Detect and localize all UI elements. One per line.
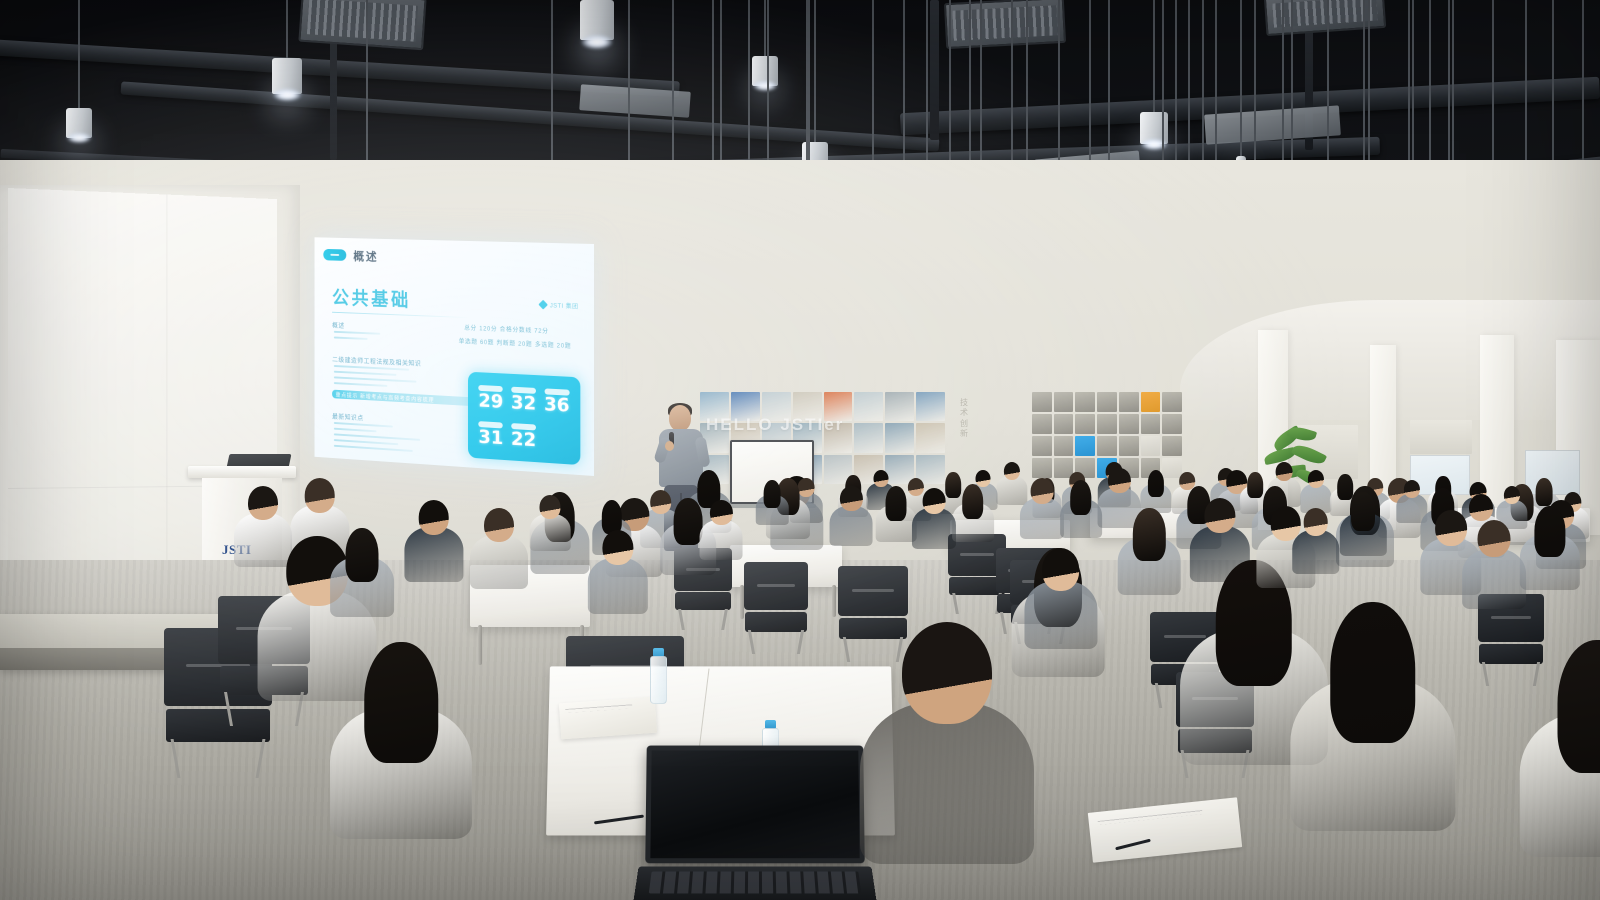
employee-portrait <box>1119 436 1139 456</box>
employee-portrait <box>1141 414 1161 434</box>
lamp-housing <box>580 0 614 40</box>
person-torso <box>860 702 1034 864</box>
wall-chinese-text: 技术创新 <box>960 398 972 440</box>
table-leg <box>478 625 482 665</box>
slide-kpi-card: 2932363122 <box>468 372 580 465</box>
slide-body-line <box>334 337 368 340</box>
bottle-body <box>650 656 667 704</box>
person-head <box>710 500 732 525</box>
employee-portrait <box>1162 392 1182 412</box>
foreground-attendee <box>1290 602 1455 853</box>
slide-title: 公共基础 <box>332 283 411 312</box>
lamp-cord <box>551 0 553 168</box>
laptop-keyboard <box>649 871 861 893</box>
projected-slide: 概述 公共基础 JSTI 集团 概述 二级建造师工程法规及相关知识 重点提示 新… <box>315 237 594 476</box>
lamp-cord <box>628 0 630 184</box>
slide-logo-text: JSTI 集团 <box>550 300 579 310</box>
pendant-lamp <box>66 0 92 152</box>
person-head <box>1148 470 1164 497</box>
slide-highlight-bar: 重点提示 新增考点与高频考查内容梳理 <box>332 390 475 407</box>
slide-highlight-text: 重点提示 新增考点与高频考查内容梳理 <box>336 391 435 404</box>
person-torso <box>700 520 743 560</box>
slide-kpi-item: 36 <box>541 383 573 419</box>
window-blind <box>1410 420 1472 454</box>
lamp-cord <box>78 0 80 108</box>
wall-photo <box>885 392 914 421</box>
audience-member <box>1462 520 1526 617</box>
lamp-cord <box>1202 0 1204 184</box>
person-head <box>602 500 622 534</box>
laptop-base <box>633 867 876 900</box>
person-torso <box>830 506 873 546</box>
wall-photo <box>854 423 883 452</box>
person-torso <box>912 508 956 549</box>
audience-member <box>404 500 463 590</box>
slide-kpi-value: 31 <box>478 427 503 447</box>
lamp-cord <box>1240 0 1242 156</box>
audience-member <box>952 484 994 547</box>
person-torso <box>1292 530 1340 574</box>
employee-portrait <box>1162 414 1182 434</box>
lamp-cord <box>286 0 288 58</box>
wall-photo <box>916 392 945 421</box>
person-head <box>1031 478 1054 504</box>
foreground-attendee <box>1520 640 1600 878</box>
slide-logo-mark <box>539 300 548 310</box>
person-head <box>1004 462 1020 480</box>
employee-portrait <box>1141 436 1161 456</box>
person-head <box>673 498 702 545</box>
audience-member <box>1118 508 1181 603</box>
audience-member <box>876 486 917 548</box>
slide-kpi-value: 32 <box>511 393 536 413</box>
person-head <box>1351 492 1375 531</box>
lectern-top <box>188 466 296 478</box>
employee-portrait <box>1032 414 1052 434</box>
person-torso <box>1462 549 1526 608</box>
seminar-room-photo: 概述 公共基础 JSTI 集团 概述 二级建造师工程法规及相关知识 重点提示 新… <box>0 0 1600 900</box>
person-head <box>603 530 634 565</box>
employee-portrait <box>1054 436 1074 456</box>
person-head <box>1133 508 1165 561</box>
person-torso <box>1020 498 1064 539</box>
slide-header: 概述 <box>315 237 594 278</box>
person-head <box>962 484 984 519</box>
slide-right-line: 总分 120分 合格分数线 72分 <box>464 323 548 335</box>
chair-back <box>838 566 908 616</box>
slide-title-rule <box>332 312 468 318</box>
audience-member <box>1060 480 1102 543</box>
chair-legs <box>170 739 265 778</box>
slide-kpi-value: 29 <box>478 391 503 411</box>
slide-kpi-value: 22 <box>511 429 536 449</box>
employee-portrait <box>1141 392 1161 412</box>
person-head <box>764 480 781 508</box>
lamp-glow <box>273 89 301 101</box>
slide-body-line <box>334 439 398 445</box>
notebook <box>559 697 657 740</box>
wall-slogan: HELLO JSTIer <box>706 415 844 435</box>
employee-portrait <box>1075 392 1095 412</box>
slide-kpi-item: 32 <box>508 382 539 418</box>
slide-kpi-item: 29 <box>475 380 506 416</box>
foreground-attendee <box>860 622 1034 886</box>
chair-legs <box>951 593 1002 614</box>
slide-right-line: 单选题 60题 判断题 20题 多选题 20题 <box>459 336 572 350</box>
chair-legs <box>677 609 728 630</box>
person-head <box>1308 470 1324 488</box>
slide-body-line <box>334 428 377 433</box>
pendant-lamp <box>580 0 614 54</box>
person-head <box>1276 462 1293 481</box>
slide-kpi-item: 31 <box>475 416 506 452</box>
person-head <box>484 508 514 542</box>
employee-portrait <box>1162 436 1182 456</box>
chair-seat <box>675 592 731 610</box>
person-torso <box>470 535 528 589</box>
slide-section-label: 最新知识点 <box>332 411 363 422</box>
slide-nav-badge <box>323 249 346 261</box>
person-head <box>304 478 335 513</box>
person-torso <box>530 514 571 552</box>
chair-seat <box>745 612 806 632</box>
audience-member <box>1340 492 1386 562</box>
person-head <box>540 495 561 519</box>
person-torso <box>404 527 463 582</box>
person-head <box>345 528 378 582</box>
employee-portrait <box>1097 414 1117 434</box>
person-head <box>418 500 449 535</box>
foreground-attendee <box>330 642 472 858</box>
slide-body-line <box>334 445 413 452</box>
person-head <box>886 486 907 521</box>
person-head <box>1477 520 1510 557</box>
person-head <box>1303 508 1328 536</box>
slide-body-line <box>334 371 397 376</box>
audience-member <box>1020 478 1064 545</box>
lamp-cord <box>1153 0 1155 112</box>
wall-photo <box>854 392 883 421</box>
presenter-head <box>669 405 691 431</box>
employee-portrait <box>1119 414 1139 434</box>
slide-logo: JSTI 集团 <box>540 300 578 310</box>
pendant-lamp <box>272 0 302 108</box>
slide-body-line <box>334 422 393 428</box>
lamp-glow <box>581 35 612 49</box>
employee-portrait <box>1119 392 1139 412</box>
person-torso <box>1024 581 1097 649</box>
water-bottle <box>650 648 667 704</box>
chair-legs <box>748 630 804 654</box>
slide-nav-label: 概述 <box>353 248 378 265</box>
person-head <box>248 486 278 520</box>
wall-photo <box>916 423 945 452</box>
employee-portrait <box>1097 392 1117 412</box>
employee-portrait <box>1097 436 1117 456</box>
person-head <box>840 486 862 511</box>
chair <box>744 562 808 654</box>
slide-body-line <box>334 331 380 335</box>
person-head <box>1330 602 1416 743</box>
employee-portrait <box>1075 414 1095 434</box>
slide-section-label: 概述 <box>332 319 345 329</box>
audience-member <box>330 528 394 625</box>
employee-portrait <box>1054 414 1074 434</box>
slide-kpi-item: 22 <box>508 418 539 454</box>
person-head <box>1504 486 1520 504</box>
chair-back <box>744 562 808 610</box>
audience-member <box>588 530 648 622</box>
employee-portrait <box>1054 392 1074 412</box>
slide-kpi-value: 36 <box>544 395 570 415</box>
pendant-lamp <box>1236 0 1246 182</box>
audience-member <box>756 480 788 529</box>
person-head <box>1404 480 1420 498</box>
slide-body-line <box>334 382 388 387</box>
audience-member <box>1292 508 1340 580</box>
employee-portrait <box>1032 458 1052 478</box>
slide-body-line <box>334 376 417 382</box>
foreground-laptop <box>636 745 866 900</box>
person-head <box>1205 498 1236 533</box>
audience-member <box>1520 506 1580 598</box>
person-head <box>1558 640 1600 773</box>
table-leg <box>832 585 836 617</box>
person-head <box>923 488 946 514</box>
employee-portrait <box>1075 436 1095 456</box>
person-torso <box>588 558 648 614</box>
audience-member <box>530 495 571 557</box>
audience-member <box>470 508 528 596</box>
person-head <box>902 622 992 724</box>
presenter-hand <box>665 441 674 451</box>
person-head <box>1042 548 1080 591</box>
audience-member <box>830 486 873 551</box>
employee-portrait <box>1032 436 1052 456</box>
person-head <box>1070 480 1092 515</box>
person-head <box>873 470 888 487</box>
slide-kpi-grid: 2932363122 <box>475 380 572 457</box>
person-head <box>1535 506 1566 557</box>
person-head <box>364 642 438 763</box>
employee-portrait <box>1032 392 1052 412</box>
audience-member <box>700 500 743 565</box>
laptop-screen <box>645 746 865 864</box>
audience-member <box>1024 548 1097 659</box>
wall-photo <box>885 423 914 452</box>
audience-member <box>912 488 956 555</box>
person-head <box>1108 468 1130 493</box>
